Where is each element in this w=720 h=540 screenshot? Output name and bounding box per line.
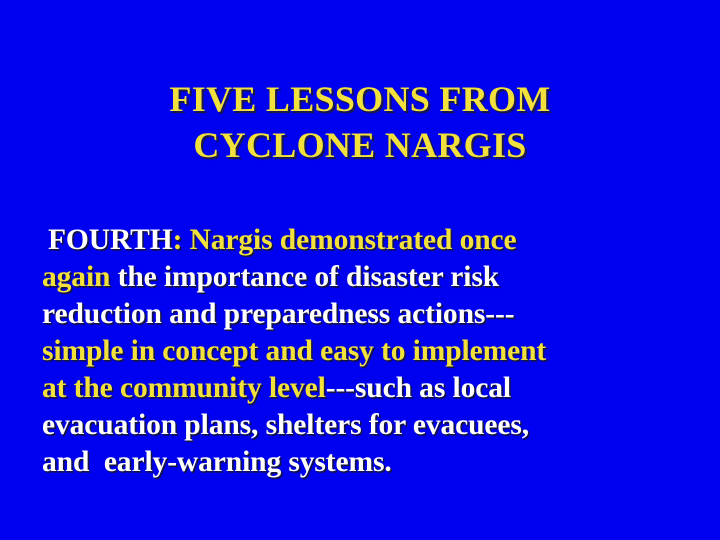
body-text-segment: and early-warning systems. — [42, 446, 392, 478]
body-line: again the importance of disaster risk — [42, 259, 692, 296]
slide-title-line-2: CYCLONE NARGIS — [48, 122, 672, 168]
body-text-segment: ---such as local — [326, 372, 511, 404]
body-text-segment: evacuation plans, shelters for evacuees, — [42, 409, 529, 441]
body-text-segment: again — [42, 261, 110, 293]
body-line: reduction and preparedness actions--- — [42, 296, 692, 333]
body-text-segment: FOURTH — [48, 224, 173, 256]
body-line: FOURTH: Nargis demonstrated once — [42, 222, 692, 259]
body-line: and early-warning systems. — [42, 444, 692, 481]
slide-title: FIVE LESSONS FROM CYCLONE NARGIS — [48, 76, 672, 168]
presentation-slide: FIVE LESSONS FROM CYCLONE NARGIS FOURTH:… — [0, 0, 720, 540]
body-text-segment: simple in concept and easy to implement — [42, 335, 546, 367]
body-line: at the community level---such as local — [42, 370, 692, 407]
body-line: evacuation plans, shelters for evacuees, — [42, 407, 692, 444]
body-text-segment: reduction and preparedness actions--- — [42, 298, 514, 330]
slide-body-text: FOURTH: Nargis demonstrated onceagain th… — [42, 222, 692, 481]
body-line: simple in concept and easy to implement — [42, 333, 692, 370]
body-text-segment: : Nargis demonstrated once — [173, 224, 517, 256]
body-text-segment: at the community level — [42, 372, 326, 404]
body-text-segment: the importance of disaster risk — [110, 261, 499, 293]
slide-title-line-1: FIVE LESSONS FROM — [48, 76, 672, 122]
